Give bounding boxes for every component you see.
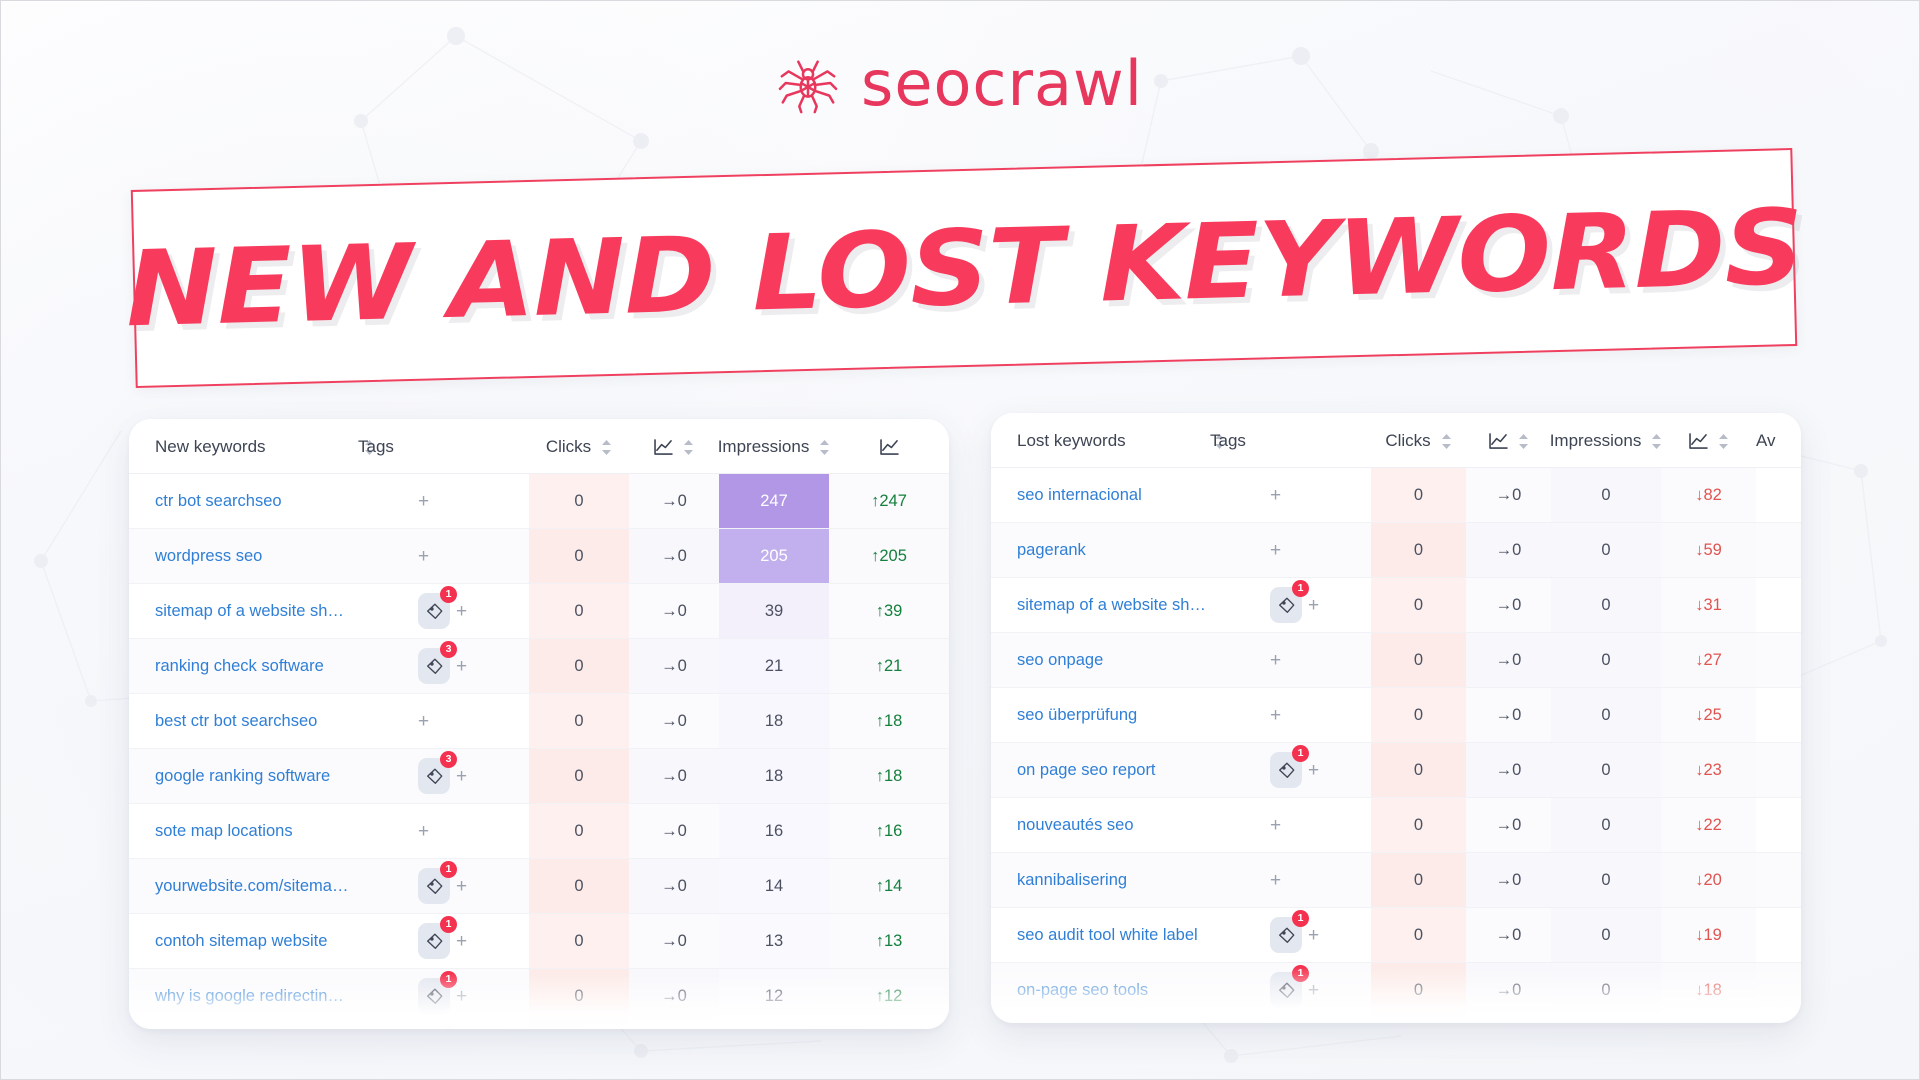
cell-average-position <box>1756 633 1801 688</box>
table-row[interactable]: on page seo report1+0→00↓23 <box>991 743 1801 798</box>
tag-chip[interactable]: 1 <box>418 923 450 959</box>
table-row[interactable]: kannibalisering+0→00↓20 <box>991 853 1801 908</box>
clicks-trend-value: →0 <box>1496 541 1522 559</box>
cell-tags[interactable]: 1+ <box>1196 908 1371 963</box>
cell-clicks-trend: →0 <box>1466 578 1551 633</box>
cell-impressions: 0 <box>1551 743 1661 798</box>
add-tag-icon[interactable]: + <box>1308 761 1319 780</box>
cell-impressions: 16 <box>719 804 829 859</box>
cell-keyword[interactable]: wordpress seo <box>129 529 344 584</box>
clicks-trend-value: →0 <box>1496 706 1522 724</box>
cell-impressions: 0 <box>1551 468 1661 523</box>
tag-count-badge: 1 <box>440 586 457 603</box>
tag-icon <box>426 933 443 950</box>
delta-value-up: ↑39 <box>876 602 903 620</box>
add-tag-icon[interactable]: + <box>456 932 467 951</box>
cell-impressions: 0 <box>1551 798 1661 853</box>
clicks-trend-value: →0 <box>661 547 687 565</box>
keyword-link[interactable]: kannibalisering <box>1017 871 1127 889</box>
add-tag-icon[interactable]: + <box>1270 816 1281 835</box>
keyword-link[interactable]: google ranking software <box>155 767 330 785</box>
cell-clicks: 0 <box>1371 963 1466 1018</box>
cell-clicks: 0 <box>529 859 629 914</box>
add-tag-icon[interactable]: + <box>456 657 467 676</box>
column-header-clicks-chart[interactable] <box>1466 413 1551 468</box>
tag-icon <box>1278 927 1295 944</box>
clicks-trend-value: →0 <box>1496 871 1522 889</box>
tag-chip[interactable]: 1 <box>1270 752 1302 788</box>
keyword-link[interactable]: pagerank <box>1017 541 1086 559</box>
clicks-trend-value: →0 <box>1496 816 1522 834</box>
cell-keyword[interactable]: seo onpage <box>991 633 1196 688</box>
clicks-trend-value: →0 <box>661 602 687 620</box>
cell-clicks-trend: →0 <box>629 914 719 969</box>
delta-value-down: ↓27 <box>1695 651 1722 669</box>
cell-tags[interactable]: + <box>1196 523 1371 578</box>
clicks-trend-value: →0 <box>661 877 687 895</box>
clicks-trend-value: →0 <box>1496 651 1522 669</box>
tag-count-badge: 1 <box>1292 965 1309 982</box>
cell-impressions-delta: ↑18 <box>829 749 949 804</box>
delta-value-down: ↓31 <box>1695 596 1722 614</box>
cell-keyword[interactable]: yourwebsite.com/sitema… <box>129 859 344 914</box>
cell-clicks: 0 <box>1371 468 1466 523</box>
cell-clicks: 0 <box>529 474 629 529</box>
lost-keywords-body: seo internacional+0→00↓82pagerank+0→00↓5… <box>991 468 1801 1024</box>
cell-clicks: 0 <box>1371 633 1466 688</box>
tag-count-badge: 3 <box>440 641 457 658</box>
cell-keyword[interactable]: on page seo report <box>991 743 1196 798</box>
table-row[interactable]: seo audit tool white label1+0→00↓19 <box>991 908 1801 963</box>
delta-value-down: ↓22 <box>1695 816 1722 834</box>
cell-tags[interactable]: + <box>1196 688 1371 743</box>
cell-impressions-delta: ↓82 <box>1661 468 1756 523</box>
keyword-link[interactable]: seo internacional <box>1017 486 1142 504</box>
sort-icon[interactable] <box>683 440 694 455</box>
sort-icon[interactable] <box>1651 434 1662 449</box>
delta-value-up: ↑21 <box>876 657 903 675</box>
delta-value-up: ↑205 <box>871 547 907 565</box>
delta-value-down: ↓19 <box>1695 926 1722 944</box>
clicks-trend-value: →0 <box>1496 981 1522 999</box>
column-label: Tags <box>1210 431 1246 450</box>
add-tag-icon[interactable]: + <box>1270 541 1281 560</box>
keyword-link[interactable]: sote map locations <box>155 822 293 840</box>
cell-impressions-delta: ↓31 <box>1661 578 1756 633</box>
cell-clicks-trend: →0 <box>1466 908 1551 963</box>
brand-logo: seocrawl <box>1 53 1919 115</box>
tag-chip[interactable]: 3 <box>418 758 450 794</box>
cell-impressions: 0 <box>1551 688 1661 743</box>
column-header-average-position[interactable]: Av <box>1756 413 1801 468</box>
clicks-trend-value: →0 <box>1496 761 1522 779</box>
keyword-link[interactable]: on page seo report <box>1017 761 1156 779</box>
column-header-tags: Tags <box>1196 413 1371 468</box>
table-row[interactable]: contoh sitemap website1+0→013↑13 <box>129 914 949 969</box>
column-label: Tags <box>358 437 394 456</box>
tag-icon <box>1278 982 1295 999</box>
delta-value-down: ↓25 <box>1695 706 1722 724</box>
keyword-link[interactable]: seo überprüfung <box>1017 706 1137 724</box>
table-row[interactable]: seo überprüfung+0→00↓25 <box>991 688 1801 743</box>
line-chart-icon <box>654 439 673 455</box>
cell-clicks-trend: →0 <box>629 804 719 859</box>
keyword-link[interactable]: sitemap of a website sh… <box>155 602 344 620</box>
cell-clicks-trend: →0 <box>629 474 719 529</box>
new-keywords-body: ctr bot searchseo+0→0247↑247wordpress se… <box>129 474 949 1030</box>
tag-count-badge: 1 <box>440 916 457 933</box>
table-row[interactable]: google ranking software3+0→018↑18 <box>129 749 949 804</box>
cell-impressions: 0 <box>1551 853 1661 908</box>
add-tag-icon[interactable]: + <box>1308 926 1319 945</box>
column-label: Clicks <box>546 437 591 457</box>
keyword-link[interactable]: nouveautés seo <box>1017 816 1134 834</box>
cell-impressions: 0 <box>1551 523 1661 578</box>
cell-tags[interactable]: 1+ <box>344 914 529 969</box>
column-header-new-keywords[interactable]: New keywords <box>129 419 344 474</box>
table-row[interactable]: why is google redirectin…1+0→012↑12 <box>129 969 949 1024</box>
cell-tags[interactable]: 1+ <box>344 859 529 914</box>
cell-tags[interactable]: 2+ <box>344 1024 529 1030</box>
new-keywords-header: New keywords Tags Clicks <box>129 419 949 474</box>
cell-average-position <box>1756 578 1801 633</box>
cell-clicks-trend: →0 <box>629 749 719 804</box>
table-row[interactable]: seo tracking tools2+0→012↑ <box>129 1024 949 1030</box>
add-tag-icon[interactable]: + <box>418 492 429 511</box>
cell-keyword[interactable]: best ctr bot searchseo <box>129 694 344 749</box>
clicks-trend-value: →0 <box>661 657 687 675</box>
lost-keywords-card: Lost keywords Tags Clicks <box>991 413 1801 1023</box>
cell-keyword[interactable]: seo internacional <box>991 468 1196 523</box>
cell-impressions: 205 <box>719 529 829 584</box>
cell-impressions: 18 <box>719 749 829 804</box>
cell-tags[interactable]: 1+ <box>1196 578 1371 633</box>
cell-keyword[interactable]: sitemap of a website sh… <box>991 578 1196 633</box>
column-label: Clicks <box>1385 431 1430 451</box>
sort-icon[interactable] <box>1518 434 1529 449</box>
tag-count-badge: 3 <box>440 751 457 768</box>
column-label: Lost keywords <box>1017 431 1126 451</box>
cell-impressions-delta: ↑21 <box>829 639 949 694</box>
add-tag-icon[interactable]: + <box>1270 486 1281 505</box>
cell-impressions-delta: ↑ <box>829 1024 949 1030</box>
cell-clicks: 0 <box>1371 688 1466 743</box>
cell-tags[interactable]: + <box>344 804 529 859</box>
cell-clicks: 0 <box>529 694 629 749</box>
cell-impressions-delta: ↑16 <box>829 804 949 859</box>
cell-impressions: 12 <box>719 969 829 1024</box>
cell-impressions-delta: ↓18 <box>1661 963 1756 1018</box>
cell-keyword[interactable]: seo audit tool white label <box>991 908 1196 963</box>
tag-icon <box>426 603 443 620</box>
add-tag-icon[interactable]: + <box>418 712 429 731</box>
add-tag-icon[interactable]: + <box>1270 651 1281 670</box>
tag-chip[interactable]: 1 <box>1270 587 1302 623</box>
tag-count-badge: 2 <box>440 1026 457 1029</box>
cell-impressions-delta: ↓59 <box>1661 523 1756 578</box>
table-row[interactable]: ctr bot searchseo+0→0247↑247 <box>129 474 949 529</box>
cell-keyword[interactable]: nouveautés seo <box>991 798 1196 853</box>
table-row[interactable]: seo onpage+0→00↓27 <box>991 633 1801 688</box>
column-header-tags: Tags <box>344 419 529 474</box>
delta-value-up: ↑16 <box>876 822 903 840</box>
cell-impressions: 247 <box>719 474 829 529</box>
cell-keyword[interactable]: sitemap of a website sh… <box>129 584 344 639</box>
column-header-clicks-chart[interactable] <box>629 419 719 474</box>
cell-average-position <box>1756 468 1801 523</box>
cell-tags[interactable]: + <box>1196 1018 1371 1024</box>
table-row[interactable]: sitemap of a website sh…1+0→039↑39 <box>129 584 949 639</box>
cell-keyword[interactable]: google ranking software <box>129 749 344 804</box>
cell-impressions-delta: ↑247 <box>829 474 949 529</box>
cell-tags[interactable]: 3+ <box>344 639 529 694</box>
table-row[interactable]: sote map locations+0→016↑16 <box>129 804 949 859</box>
table-row[interactable]: yourwebsite.com/sitema…1+0→014↑14 <box>129 859 949 914</box>
keyword-link[interactable]: contoh sitemap website <box>155 932 327 950</box>
column-label: Impressions <box>718 437 810 457</box>
cell-tags[interactable]: 3+ <box>344 749 529 804</box>
cell-impressions-delta: ↓18 <box>1661 1018 1756 1024</box>
column-label: Av <box>1756 431 1776 450</box>
cell-clicks: 0 <box>1371 523 1466 578</box>
cell-keyword[interactable]: sote map locations <box>129 804 344 859</box>
cell-tags[interactable]: 1+ <box>1196 963 1371 1018</box>
cell-clicks: 0 <box>1371 908 1466 963</box>
cell-keyword[interactable]: why is google redirectin… <box>129 969 344 1024</box>
cell-keyword[interactable]: ctr bot searchseo <box>129 474 344 529</box>
cell-impressions: 0 <box>1551 908 1661 963</box>
column-header-impressions[interactable]: Impressions <box>1551 413 1661 468</box>
cell-clicks-trend: →0 <box>1466 523 1551 578</box>
cell-clicks-trend: →0 <box>629 694 719 749</box>
keyword-link[interactable]: wordpress seo <box>155 547 262 565</box>
delta-value-down: ↓23 <box>1695 761 1722 779</box>
table-row[interactable]: on-page seo tools1+0→00↓18 <box>991 963 1801 1018</box>
table-row[interactable]: seo internacional+0→00↓82 <box>991 468 1801 523</box>
clicks-trend-value: →0 <box>661 767 687 785</box>
spider-icon <box>777 53 839 115</box>
cell-impressions-delta: ↓22 <box>1661 798 1756 853</box>
cell-tags[interactable]: + <box>1196 798 1371 853</box>
cell-clicks-trend: →0 <box>1466 633 1551 688</box>
cell-clicks: 0 <box>1371 743 1466 798</box>
cell-tags[interactable]: 1+ <box>344 969 529 1024</box>
keyword-link[interactable]: seo audit tool white label <box>1017 926 1198 944</box>
cell-clicks: 0 <box>529 749 629 804</box>
cell-average-position <box>1756 908 1801 963</box>
tag-icon <box>1278 597 1295 614</box>
cell-clicks: 0 <box>529 584 629 639</box>
column-header-lost-keywords[interactable]: Lost keywords <box>991 413 1196 468</box>
sort-icon[interactable] <box>1718 434 1729 449</box>
table-row[interactable]: onpage check+0→00↓18 <box>991 1018 1801 1024</box>
cell-clicks: 0 <box>529 969 629 1024</box>
new-keywords-table: New keywords Tags Clicks <box>129 419 949 1029</box>
cell-impressions: 12 <box>719 1024 829 1030</box>
cell-clicks: 0 <box>1371 798 1466 853</box>
cell-clicks-trend: →0 <box>629 529 719 584</box>
cell-tags[interactable]: + <box>344 529 529 584</box>
cell-clicks: 0 <box>529 639 629 694</box>
tag-count-badge: 1 <box>1292 580 1309 597</box>
cell-tags[interactable]: + <box>344 474 529 529</box>
cell-average-position <box>1756 523 1801 578</box>
table-row[interactable]: wordpress seo+0→0205↑205 <box>129 529 949 584</box>
cell-clicks-trend: →0 <box>1466 743 1551 798</box>
delta-value-up: ↑14 <box>876 877 903 895</box>
column-header-impressions[interactable]: Impressions <box>719 419 829 474</box>
cell-impressions-delta: ↓20 <box>1661 853 1756 908</box>
clicks-trend-value: →0 <box>1496 596 1522 614</box>
cell-clicks: 0 <box>1371 578 1466 633</box>
tag-chip[interactable]: 1 <box>1270 917 1302 953</box>
cell-clicks-trend: →0 <box>629 969 719 1024</box>
cell-clicks-trend: →0 <box>1466 688 1551 743</box>
line-chart-icon <box>1489 433 1508 449</box>
delta-value-up: ↑13 <box>876 932 903 950</box>
delta-value-down: ↓18 <box>1695 981 1722 999</box>
cell-tags[interactable]: + <box>1196 468 1371 523</box>
sort-icon[interactable] <box>601 440 612 455</box>
sort-icon[interactable] <box>819 440 830 455</box>
tag-chip[interactable]: 1 <box>1270 972 1302 1008</box>
add-tag-icon[interactable]: + <box>456 877 467 896</box>
cell-tags[interactable]: + <box>1196 853 1371 908</box>
clicks-trend-value: →0 <box>661 822 687 840</box>
delta-value-down: ↓82 <box>1695 486 1722 504</box>
add-tag-icon[interactable]: + <box>418 547 429 566</box>
column-header-clicks[interactable]: Clicks <box>529 419 629 474</box>
cell-clicks-trend: →0 <box>1466 1018 1551 1024</box>
cell-average-position <box>1756 963 1801 1018</box>
cell-keyword[interactable]: ranking check software <box>129 639 344 694</box>
column-label: New keywords <box>155 437 266 457</box>
cell-keyword[interactable]: seo tracking tools <box>129 1024 344 1030</box>
cell-average-position <box>1756 853 1801 908</box>
add-tag-icon[interactable]: + <box>418 822 429 841</box>
tag-icon <box>426 878 443 895</box>
sort-icon[interactable] <box>1441 434 1452 449</box>
tag-chip[interactable]: 1 <box>418 593 450 629</box>
table-row[interactable]: best ctr bot searchseo+0→018↑18 <box>129 694 949 749</box>
cell-impressions: 39 <box>719 584 829 639</box>
column-header-impressions-chart[interactable] <box>1661 413 1756 468</box>
add-tag-icon[interactable]: + <box>1270 706 1281 725</box>
tag-count-badge: 1 <box>440 971 457 988</box>
lost-keywords-header: Lost keywords Tags Clicks <box>991 413 1801 468</box>
clicks-trend-value: →0 <box>661 712 687 730</box>
cell-tags[interactable]: 1+ <box>1196 743 1371 798</box>
add-tag-icon[interactable]: + <box>456 767 467 786</box>
tag-chip[interactable]: 1 <box>418 978 450 1014</box>
cell-clicks: 0 <box>1371 1018 1466 1024</box>
keyword-link[interactable]: sitemap of a website sh… <box>1017 596 1206 614</box>
cell-clicks-trend: →0 <box>1466 468 1551 523</box>
cell-average-position <box>1756 688 1801 743</box>
cell-impressions-delta: ↑205 <box>829 529 949 584</box>
table-row[interactable]: sitemap of a website sh…1+0→00↓31 <box>991 578 1801 633</box>
cell-impressions: 18 <box>719 694 829 749</box>
keyword-link[interactable]: ctr bot searchseo <box>155 492 282 510</box>
lost-keywords-table: Lost keywords Tags Clicks <box>991 413 1801 1023</box>
delta-value-up: ↑18 <box>876 712 903 730</box>
table-row[interactable]: ranking check software3+0→021↑21 <box>129 639 949 694</box>
delta-value-up: ↑18 <box>876 767 903 785</box>
cell-impressions-delta: ↑39 <box>829 584 949 639</box>
column-header-impressions-chart[interactable] <box>829 419 949 474</box>
cell-keyword[interactable]: seo überprüfung <box>991 688 1196 743</box>
delta-value-up: ↑247 <box>871 492 907 510</box>
add-tag-icon[interactable]: + <box>1270 871 1281 890</box>
keyword-link[interactable]: best ctr bot searchseo <box>155 712 317 730</box>
cell-keyword[interactable]: on-page seo tools <box>991 963 1196 1018</box>
cell-clicks: 0 <box>529 1024 629 1030</box>
cell-tags[interactable]: + <box>344 694 529 749</box>
cell-impressions-delta: ↓25 <box>1661 688 1756 743</box>
keyword-link[interactable]: yourwebsite.com/sitema… <box>155 877 348 895</box>
new-keywords-card: New keywords Tags Clicks <box>129 419 949 1029</box>
cell-clicks-trend: →0 <box>629 859 719 914</box>
column-label: Impressions <box>1550 431 1642 451</box>
clicks-trend-value: →0 <box>1496 926 1522 944</box>
add-tag-icon[interactable]: + <box>1308 981 1319 1000</box>
cell-impressions: 13 <box>719 914 829 969</box>
tag-chip[interactable]: 1 <box>418 868 450 904</box>
cell-keyword[interactable]: pagerank <box>991 523 1196 578</box>
tag-icon <box>426 768 443 785</box>
keyword-link[interactable]: on-page seo tools <box>1017 981 1148 999</box>
cell-tags[interactable]: + <box>1196 633 1371 688</box>
table-row[interactable]: pagerank+0→00↓59 <box>991 523 1801 578</box>
cell-clicks-trend: →0 <box>629 639 719 694</box>
cell-clicks-trend: →0 <box>629 584 719 639</box>
cell-keyword[interactable]: contoh sitemap website <box>129 914 344 969</box>
cell-impressions: 0 <box>1551 963 1661 1018</box>
clicks-trend-value: →0 <box>1496 486 1522 504</box>
cell-impressions-delta: ↑14 <box>829 859 949 914</box>
tag-chip[interactable]: 3 <box>418 648 450 684</box>
clicks-trend-value: →0 <box>661 987 687 1005</box>
cell-clicks-trend: →0 <box>629 1024 719 1030</box>
clicks-trend-value: →0 <box>661 492 687 510</box>
add-tag-icon[interactable]: + <box>456 987 467 1006</box>
cell-impressions-delta: ↓19 <box>1661 908 1756 963</box>
cell-average-position <box>1756 798 1801 853</box>
tag-count-badge: 1 <box>440 861 457 878</box>
table-row[interactable]: nouveautés seo+0→00↓22 <box>991 798 1801 853</box>
add-tag-icon[interactable]: + <box>1308 596 1319 615</box>
tag-count-badge: 1 <box>1292 745 1309 762</box>
cell-keyword[interactable]: kannibalisering <box>991 853 1196 908</box>
cell-impressions: 14 <box>719 859 829 914</box>
page-root: seocrawl NEW AND LOST KEYWORDS New keywo… <box>0 0 1920 1080</box>
table-header-row: New keywords Tags Clicks <box>129 419 949 474</box>
cell-impressions-delta: ↑12 <box>829 969 949 1024</box>
cell-impressions: 0 <box>1551 633 1661 688</box>
cell-clicks: 0 <box>529 529 629 584</box>
keyword-link[interactable]: seo onpage <box>1017 651 1103 669</box>
page-banner: NEW AND LOST KEYWORDS <box>131 148 1797 388</box>
column-header-clicks[interactable]: Clicks <box>1371 413 1466 468</box>
keyword-link[interactable]: ranking check software <box>155 657 324 675</box>
add-tag-icon[interactable]: + <box>456 602 467 621</box>
delta-value-down: ↓59 <box>1695 541 1722 559</box>
cell-impressions-delta: ↑13 <box>829 914 949 969</box>
cell-tags[interactable]: 1+ <box>344 584 529 639</box>
keyword-link[interactable]: why is google redirectin… <box>155 987 344 1005</box>
cell-keyword[interactable]: onpage check <box>991 1018 1196 1024</box>
tag-icon <box>1278 762 1295 779</box>
